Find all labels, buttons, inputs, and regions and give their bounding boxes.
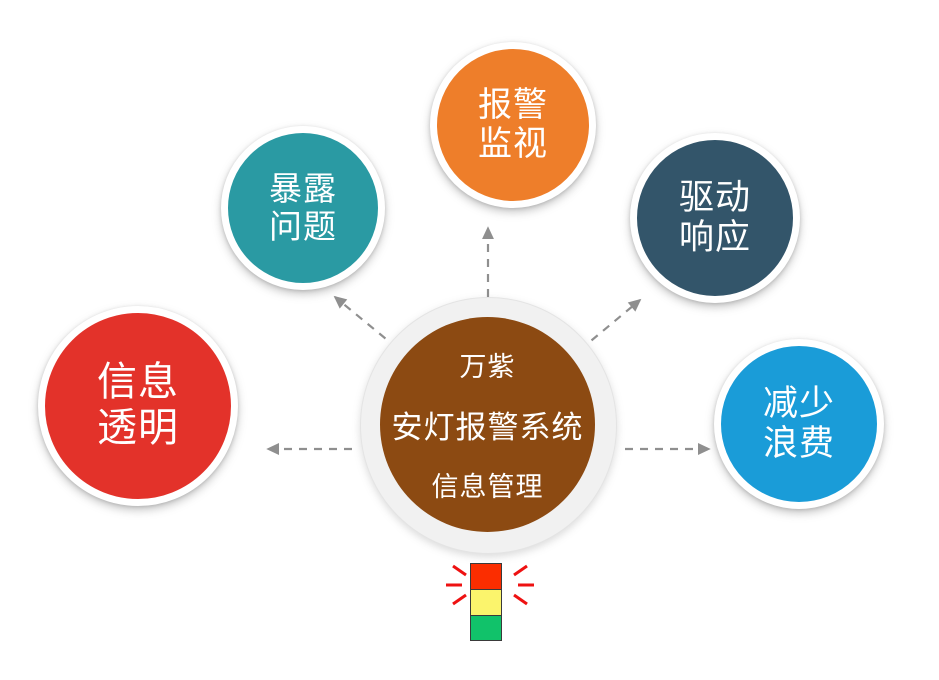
node-drive-response[interactable]: 驱动 响应: [630, 133, 800, 303]
node-expose-problems[interactable]: 暴露 问题: [221, 126, 385, 290]
node-alarm-monitoring-line-2: 监视: [478, 125, 548, 164]
node-information-transparency-line-1: 信息: [97, 360, 179, 406]
node-reduce-waste-line-2: 浪费: [763, 424, 835, 464]
andon-lamp-stack: [470, 563, 502, 641]
andon-lamp-yellow: [470, 589, 502, 615]
andon-lamp-red: [470, 563, 502, 589]
connector-to-expose-problems: [335, 297, 397, 348]
andon-lamp-green: [470, 615, 502, 641]
node-expose-problems-line-1: 暴露: [269, 170, 337, 208]
andon-hub-core[interactable]: 万紫 安灯报警系统 信息管理: [380, 317, 595, 532]
node-information-transparency[interactable]: 信息 透明: [38, 306, 238, 506]
hub-line-1: 万紫: [460, 345, 516, 384]
node-drive-response-line-2: 响应: [679, 218, 751, 258]
node-expose-problems-line-2: 问题: [269, 208, 337, 246]
hub-line-3: 信息管理: [432, 465, 544, 504]
node-drive-response-line-1: 驱动: [679, 178, 751, 218]
node-reduce-waste[interactable]: 减少 浪费: [714, 339, 884, 509]
hub-line-2: 安灯报警系统: [392, 402, 584, 447]
node-alarm-monitoring-line-1: 报警: [478, 86, 548, 125]
diagram-canvas: 万紫 安灯报警系统 信息管理 报警 监视 暴露 问题 驱动 响应 信息 透明 减…: [0, 0, 939, 680]
connector-to-drive-response: [580, 300, 640, 350]
node-information-transparency-line-2: 透明: [97, 406, 179, 452]
andon-light-tower: [440, 548, 540, 652]
node-reduce-waste-line-1: 减少: [763, 384, 835, 424]
node-alarm-monitoring[interactable]: 报警 监视: [430, 42, 596, 208]
